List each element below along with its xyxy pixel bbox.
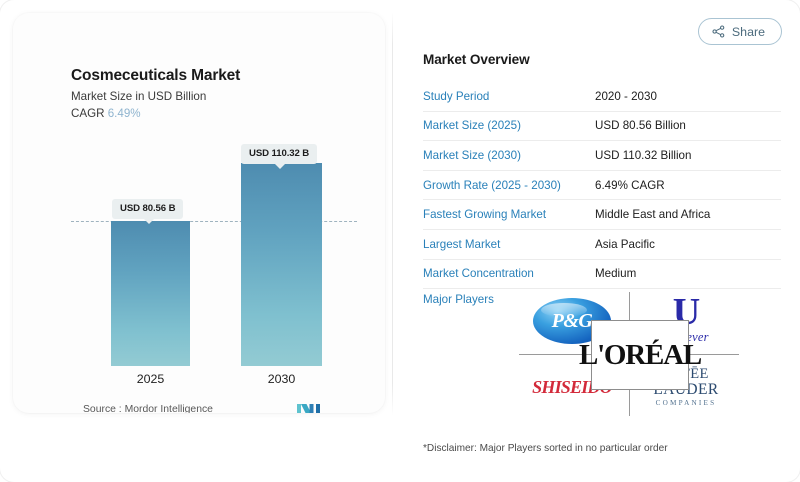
bar-value-label-2025: USD 80.56 B: [112, 199, 183, 219]
chart-card: Cosmeceuticals Market Market Size in USD…: [13, 13, 385, 413]
panel-divider: [392, 12, 393, 416]
share-icon: [712, 25, 725, 38]
major-players-label: Major Players: [423, 293, 494, 306]
disclaimer-text: *Disclaimer: Major Players sorted in no …: [423, 443, 668, 454]
row-value: 6.49% CAGR: [595, 179, 665, 192]
loreal-logo-text: L'ORÉAL: [579, 341, 701, 370]
x-axis-tick-2030: 2030: [241, 372, 322, 386]
row-value: 2020 - 2030: [595, 90, 657, 103]
source-name: Mordor Intelligence: [125, 404, 213, 413]
source-label: Source :: [83, 404, 122, 413]
row-value: Medium: [595, 267, 636, 280]
row-key: Largest Market: [423, 238, 595, 251]
row-key: Fastest Growing Market: [423, 208, 595, 221]
table-row: Study Period 2020 - 2030: [423, 82, 781, 112]
row-key: Market Size (2025): [423, 119, 595, 132]
logo-loreal: L'ORÉAL: [591, 320, 689, 390]
row-key: Study Period: [423, 90, 595, 103]
major-players-logos: P&G U Unilever SHISEIDO ESTĒE LAUDER COM…: [517, 290, 742, 418]
row-value: USD 110.32 Billion: [595, 149, 691, 162]
bar-2030[interactable]: [241, 163, 322, 366]
row-key: Growth Rate (2025 - 2030): [423, 179, 595, 192]
share-button[interactable]: Share: [698, 18, 782, 45]
overview-title: Market Overview: [423, 52, 530, 67]
table-row: Largest Market Asia Pacific: [423, 230, 781, 260]
bar-value-label-2030: USD 110.32 B: [241, 144, 317, 164]
source-line: Source : Mordor Intelligence: [83, 404, 213, 413]
market-overview-table: Study Period 2020 - 2030 Market Size (20…: [423, 82, 781, 289]
table-row: Market Size (2025) USD 80.56 Billion: [423, 112, 781, 142]
table-row: Growth Rate (2025 - 2030) 6.49% CAGR: [423, 171, 781, 201]
mordor-intelligence-logo-icon: [297, 402, 321, 413]
share-button-label: Share: [732, 25, 765, 39]
pg-logo-text: P&G: [552, 310, 593, 333]
row-key: Market Size (2030): [423, 149, 595, 162]
bar-chart-plot: USD 80.56 B USD 110.32 B 2025 2030: [13, 13, 385, 413]
row-key: Market Concentration: [423, 267, 595, 280]
row-value: Asia Pacific: [595, 238, 655, 251]
row-value: Middle East and Africa: [595, 208, 710, 221]
table-row: Market Concentration Medium: [423, 260, 781, 290]
market-report-card: Cosmeceuticals Market Market Size in USD…: [0, 0, 800, 482]
row-value: USD 80.56 Billion: [595, 119, 686, 132]
bar-2025[interactable]: [111, 221, 190, 366]
table-row: Market Size (2030) USD 110.32 Billion: [423, 141, 781, 171]
x-axis-tick-2025: 2025: [111, 372, 190, 386]
table-row: Fastest Growing Market Middle East and A…: [423, 200, 781, 230]
estee-lauder-line3: COMPANIES: [656, 400, 717, 407]
